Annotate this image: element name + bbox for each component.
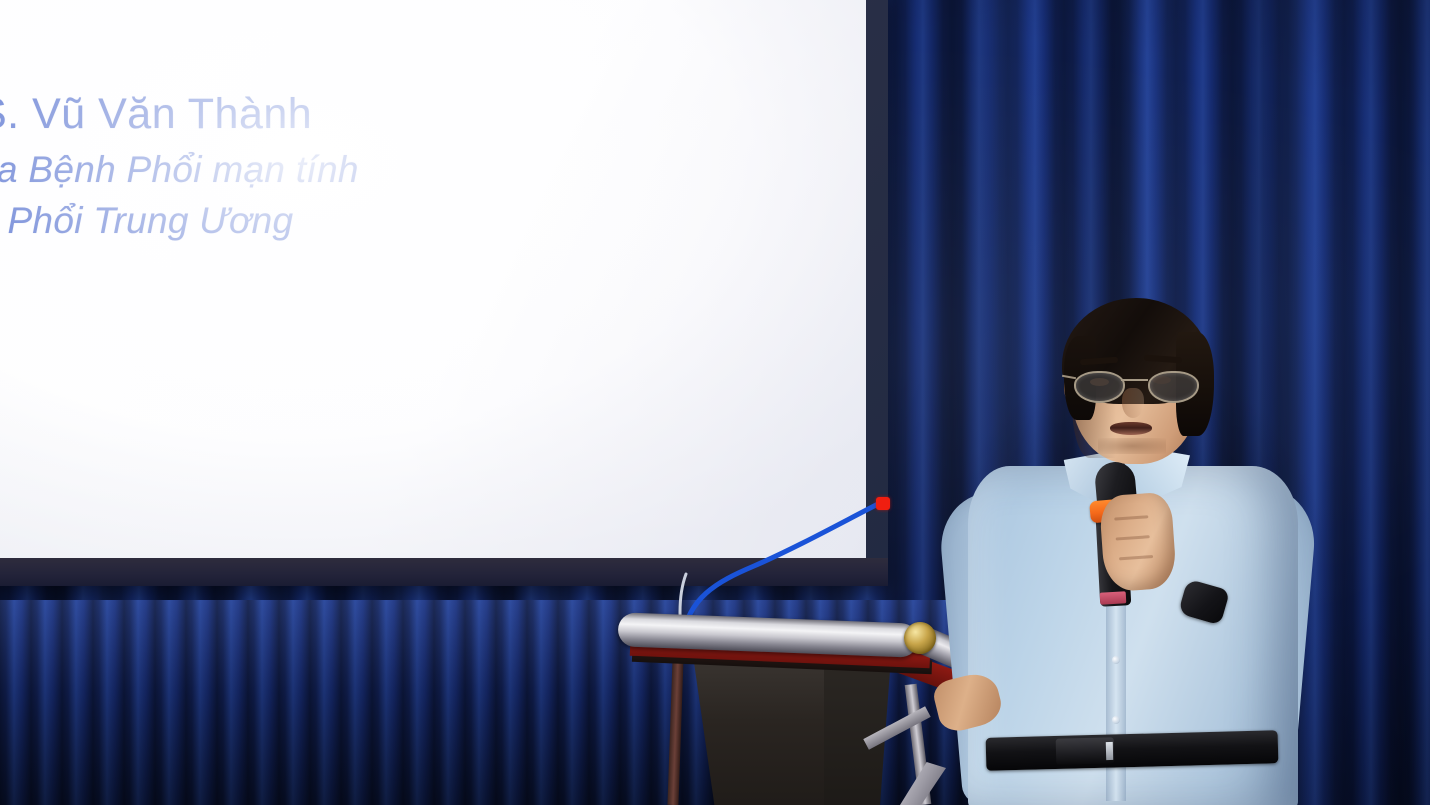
cable-red-tip — [876, 497, 890, 510]
knuckle-line — [1119, 555, 1153, 560]
shirt-button — [1112, 656, 1120, 664]
hand-holding-microphone — [1099, 492, 1178, 593]
microphone-label — [1100, 591, 1127, 604]
eyeglass-lens-right — [1148, 371, 1199, 403]
chin-shadow — [1098, 438, 1166, 454]
eyeglass-bridge — [1121, 379, 1148, 381]
eyeglasses — [1070, 368, 1204, 402]
belt-buckle-shine — [1106, 742, 1113, 760]
shirt-button — [1112, 716, 1120, 724]
eyeglass-lens-left — [1074, 371, 1125, 403]
podium-left-leg — [667, 658, 683, 805]
slide-line-title: S. Vũ Văn Thành — [0, 93, 852, 136]
presentation-photo: S. Vũ Văn Thành oa Bệnh Phổi mạn tính n … — [0, 0, 1430, 805]
speaking-podium — [612, 612, 980, 805]
mouth — [1110, 422, 1152, 435]
slide-line-department: oa Bệnh Phổi mạn tính — [0, 151, 850, 188]
presenter — [930, 296, 1350, 805]
slide-line-institution: n Phổi Trung Ương — [0, 202, 850, 239]
knuckle-line — [1114, 515, 1148, 520]
knuckle-line — [1116, 535, 1150, 540]
